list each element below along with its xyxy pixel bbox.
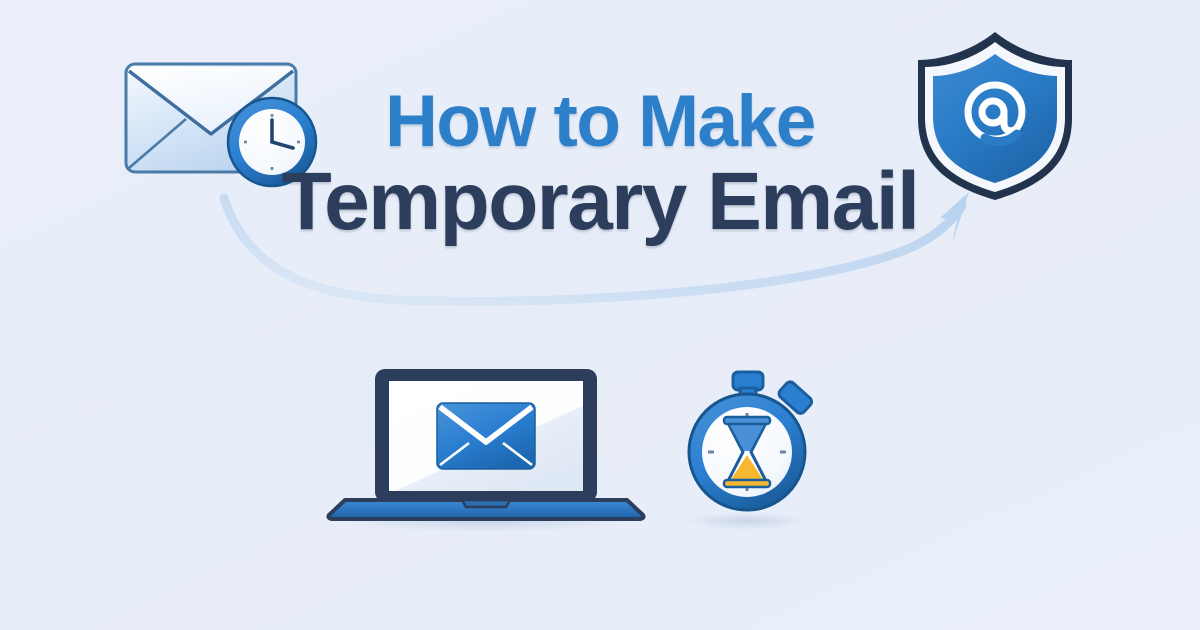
poster-canvas: How to Make Temporary Email	[0, 0, 1200, 630]
page-title: How to Make Temporary Email	[0, 86, 1200, 242]
title-line-1: How to Make	[0, 86, 1200, 158]
title-line-2: Temporary Email	[0, 162, 1200, 242]
